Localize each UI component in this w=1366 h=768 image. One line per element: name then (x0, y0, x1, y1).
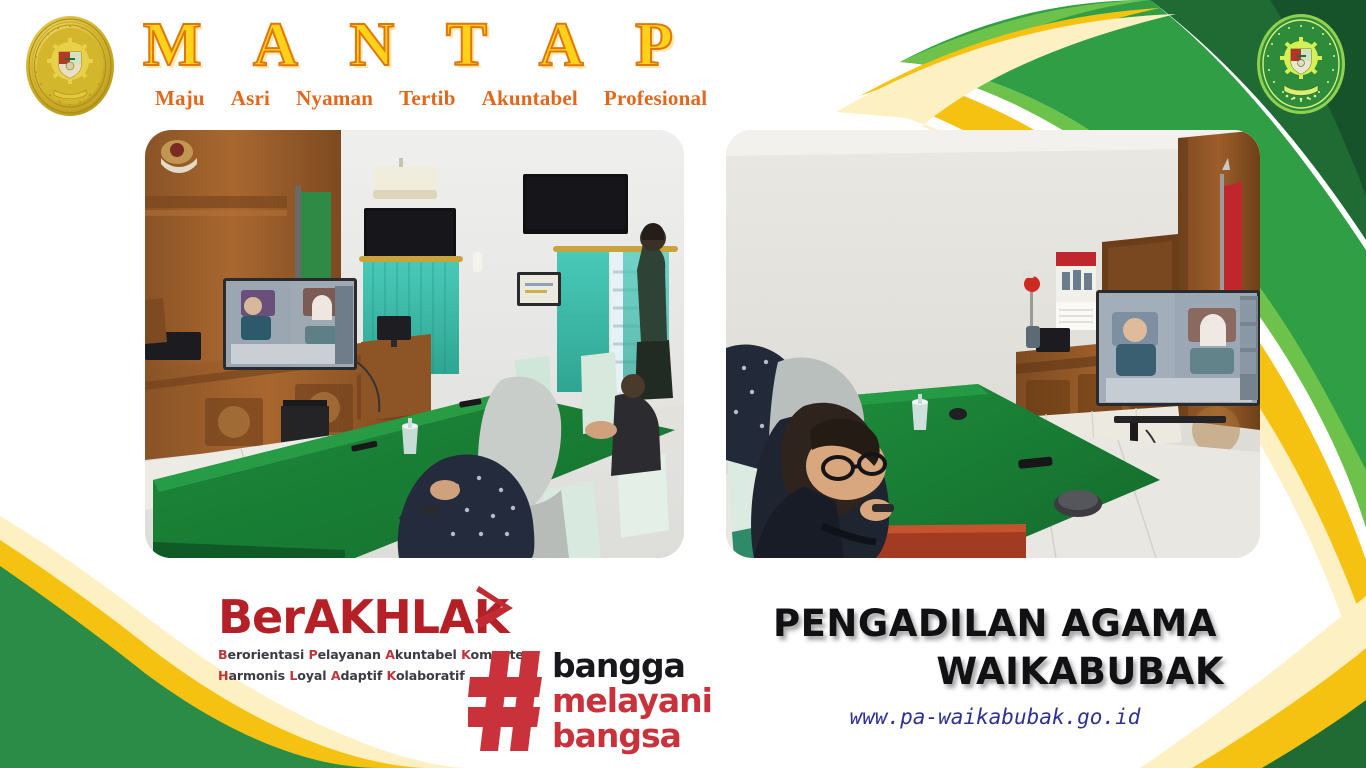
photo-courtroom-videoconference-wide (145, 130, 684, 558)
mantap-word-maju: Maju (155, 86, 205, 111)
tagline-rest-akuntabel: kuntabel (395, 647, 457, 662)
mantap-word-profesional: Profesional (604, 86, 707, 111)
mantap-word-nyaman: Nyaman (296, 86, 373, 111)
mahkamah-agung-emblem (24, 14, 116, 118)
tagline-rest-kolaboratif: olaboratif (396, 668, 465, 683)
mantap-letter-1: M (143, 10, 202, 80)
tagline-cap-p: P (308, 647, 317, 662)
tagline-rest-loyal: oyal (297, 668, 326, 683)
mantap-word-asri: Asri (231, 86, 270, 111)
mantap-word-akuntabel: Akuntabel (482, 86, 578, 111)
court-title-line-1: PENGADILAN AGAMA (760, 600, 1230, 648)
pengadilan-agama-waikabubak-emblem (1255, 12, 1347, 116)
bangga-line-2: melayani (552, 683, 712, 718)
chevron-swoosh-icon (473, 584, 517, 630)
tagline-cap-h: H (218, 668, 228, 683)
bangga-melayani-bangsa-logo: bangga melayani bangsa (468, 648, 712, 753)
tagline-cap-b: B (218, 647, 228, 662)
berakhlak-wordmark: BerAKHLAK (218, 592, 508, 642)
tagline-rest-pelayanan: elayanan (318, 647, 381, 662)
mantap-letters: M A N T A P (143, 10, 673, 80)
poster-canvas: M A N T A P Maju Asri Nyaman Tertib Akun… (0, 0, 1366, 768)
court-website-url[interactable]: www.pa-waikabubak.go.id (760, 705, 1230, 729)
court-title-line-2: WAIKABUBAK (760, 648, 1230, 696)
mantap-letter-3: N (349, 10, 394, 80)
tagline-rest-adaptif: daptif (340, 668, 382, 683)
mantap-letter-4: T (446, 10, 487, 80)
mantap-letter-2: A (253, 10, 298, 80)
ribbon-right-edge (1300, 240, 1366, 372)
mantap-heading: M A N T A P Maju Asri Nyaman Tertib Akun… (135, 10, 755, 115)
hashtag-icon (468, 649, 544, 753)
tagline-cap-k2: K (387, 668, 396, 683)
tagline-rest-berorientasi: erorientasi (228, 647, 305, 662)
mantap-word-tertib: Tertib (399, 86, 455, 111)
berakhlak-prefix: Ber (218, 590, 304, 644)
bangga-line-1: bangga (552, 648, 712, 683)
court-title-block: PENGADILAN AGAMA WAIKABUBAK www.pa-waika… (760, 600, 1230, 729)
tagline-cap-a1: A (385, 647, 395, 662)
tagline-rest-harmonis: armonis (228, 668, 285, 683)
mantap-letter-5: A (539, 10, 584, 80)
photo-courtroom-videoconference-side (726, 130, 1260, 558)
mantap-letter-6: P (635, 10, 673, 80)
mantap-words: Maju Asri Nyaman Tertib Akuntabel Profes… (155, 86, 755, 111)
bangga-line-3: bangsa (552, 718, 712, 753)
bangga-wordmark: bangga melayani bangsa (552, 648, 712, 753)
